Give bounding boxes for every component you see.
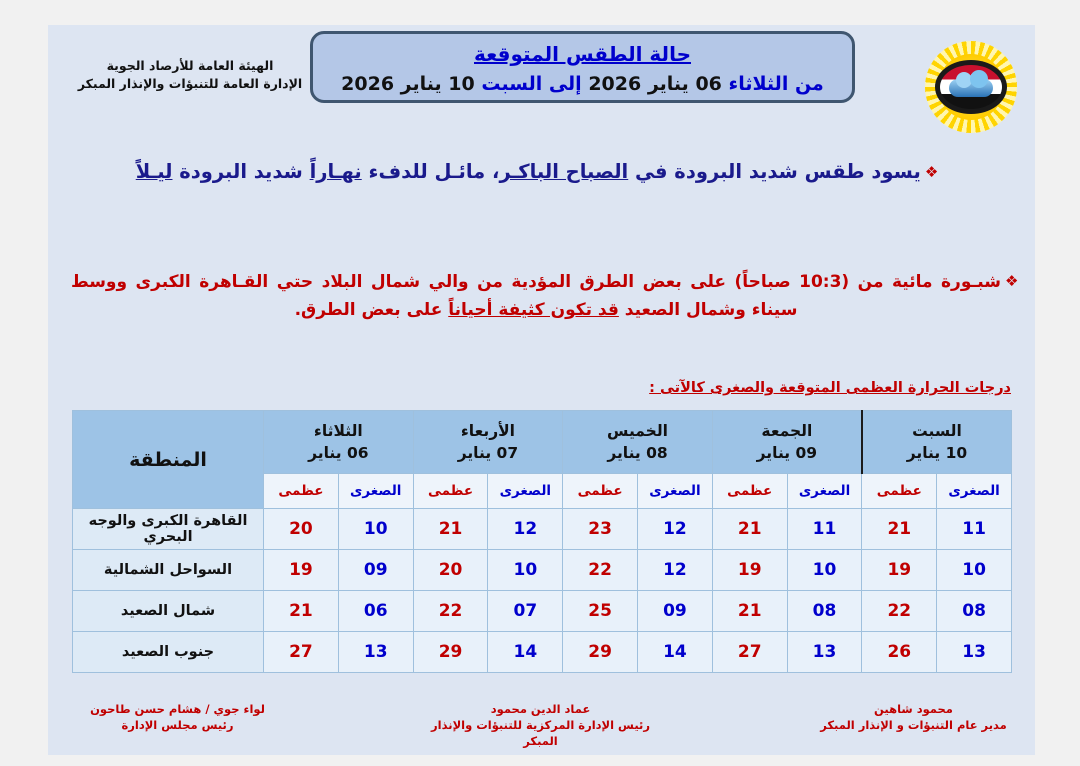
cell-r1-c1: 19 [862,550,937,591]
day-date-4: 06 يناير [264,442,413,464]
cell-r3-c2: 13 [787,632,862,673]
cloud-icon [949,79,993,97]
signature-right-role: مدير عام التنبؤات و الإنذار المبكر [806,717,1021,733]
bullet1-underline-3: ليـلاً [136,160,173,183]
cell-r3-c6: 14 [488,632,563,673]
cell-r3-c3: 27 [712,632,787,673]
cell-r1-c8: 09 [338,550,413,591]
day-header-4: الثلاثاء 06 يناير [264,411,414,474]
bullet1-text-2: ، مائـل للدفء [362,160,500,183]
day-header-2: الخميس 08 يناير [563,411,713,474]
date-range-mid: إلى السبت [481,73,581,95]
sub-header-min-0: الصغرى [937,474,1012,509]
cell-r0-c5: 23 [563,509,638,550]
temperature-table-wrapper: السبت 10 يناير الجمعة 09 يناير الخميس 08… [72,410,1012,673]
cell-r0-c8: 10 [338,509,413,550]
title-box: حالة الطقس المتوقعة من الثلاثاء 06 يناير… [310,31,855,103]
cell-r2-c5: 25 [563,591,638,632]
agency-department: الإدارة العامة للتنبؤات والإنذار المبكر [70,75,310,93]
day-header-0: السبت 10 يناير [862,411,1012,474]
region-name-2: شمال الصعيد [73,591,264,632]
table-row: 08 22 08 21 09 25 07 22 06 21 شمال الصعي… [73,591,1012,632]
cell-r3-c9: 27 [264,632,339,673]
logo-oval-shape: EMA [935,60,1007,114]
signature-middle: عماد الدين محمود رئيس الإدارة المركزية ل… [418,701,663,749]
signature-left-role: رئيس مجلس الإدارة [70,717,285,733]
signature-left-name: لواء جوي / هشام حسن طاحون [70,701,285,717]
page-title: حالة الطقس المتوقعة [313,39,852,69]
signature-right-name: محمود شاهين [806,701,1021,717]
document-header: EMA حالة الطقس المتوقعة من الثلاثاء 06 ي… [48,25,1035,140]
cell-r1-c2: 10 [787,550,862,591]
day-name-4: الثلاثاء [264,420,413,442]
region-name-0: القاهرة الكبرى والوجه البحري [73,509,264,550]
cell-r0-c7: 21 [413,509,488,550]
day-name-3: الأربعاء [414,420,563,442]
cell-r1-c4: 12 [638,550,713,591]
cell-r0-c0: 11 [937,509,1012,550]
cell-r1-c5: 22 [563,550,638,591]
cell-r3-c5: 29 [563,632,638,673]
bullet2-underline-1: قد تكون كثيفة أحياناً [448,300,619,320]
table-row: 10 19 10 19 12 22 10 20 09 19 السواحل ال… [73,550,1012,591]
signature-middle-name: عماد الدين محمود [418,701,663,717]
day-date-2: 08 يناير [563,442,712,464]
cell-r0-c4: 12 [638,509,713,550]
date-range-end: 10 يناير 2026 [341,73,475,95]
cell-r0-c2: 11 [787,509,862,550]
cell-r2-c1: 22 [862,591,937,632]
day-header-1: الجمعة 09 يناير [712,411,862,474]
sub-header-min-2: الصغرى [638,474,713,509]
sub-header-max-3: عظمى [413,474,488,509]
signature-middle-role: رئيس الإدارة المركزية للتنبؤات والإنذار … [418,717,663,749]
forecast-bullet-1: ❖يسود طقس شديد البرودة في الصباح الباكـر… [67,157,1007,187]
agency-name: الهيئة العامة للأرصاد الجوية [70,57,310,75]
cell-r3-c8: 13 [338,632,413,673]
logo-flag-shape: EMA [940,65,1002,109]
day-date-3: 07 يناير [414,442,563,464]
date-range-prefix: من الثلاثاء [729,73,824,95]
bullet2-text-2: على بعض الطرق. [295,300,449,320]
cell-r2-c8: 06 [338,591,413,632]
table-head-days-row: السبت 10 يناير الجمعة 09 يناير الخميس 08… [73,411,1012,474]
cell-r2-c9: 21 [264,591,339,632]
day-name-2: الخميس [563,420,712,442]
cell-r3-c1: 26 [862,632,937,673]
forecast-bullet-2: ❖شبـورة مائية من (10:3 صباحاً) على بعض ا… [71,267,1021,324]
cell-r1-c6: 10 [488,550,563,591]
sub-header-min-3: الصغرى [488,474,563,509]
sub-header-min-1: الصغرى [787,474,862,509]
cell-r2-c4: 09 [638,591,713,632]
cell-r1-c7: 20 [413,550,488,591]
cell-r2-c0: 08 [937,591,1012,632]
cell-r3-c4: 14 [638,632,713,673]
cell-r3-c7: 29 [413,632,488,673]
cell-r0-c3: 21 [712,509,787,550]
region-name-3: جنوب الصعيد [73,632,264,673]
cell-r0-c6: 12 [488,509,563,550]
sub-header-max-0: عظمى [862,474,937,509]
cell-r0-c1: 21 [862,509,937,550]
sub-header-max-2: عظمى [563,474,638,509]
signature-left: لواء جوي / هشام حسن طاحون رئيس مجلس الإد… [70,701,285,733]
cell-r0-c9: 20 [264,509,339,550]
cell-r1-c0: 10 [937,550,1012,591]
cell-r2-c7: 22 [413,591,488,632]
table-row: 11 21 11 21 12 23 12 21 10 20 القاهرة ال… [73,509,1012,550]
date-range-start: 06 يناير 2026 [588,73,722,95]
day-date-1: 09 يناير [713,442,861,464]
bullet1-text-3: شديد البرودة [172,160,309,183]
date-range: من الثلاثاء 06 يناير 2026 إلى السبت 10 ي… [313,69,852,99]
cell-r1-c3: 19 [712,550,787,591]
region-column-header: المنطقة [73,411,264,509]
document-page: EMA حالة الطقس المتوقعة من الثلاثاء 06 ي… [48,25,1035,755]
cell-r2-c2: 08 [787,591,862,632]
cell-r2-c6: 07 [488,591,563,632]
bullet-marker-icon: ❖ [925,163,938,181]
cell-r3-c0: 13 [937,632,1012,673]
table-row: 13 26 13 27 14 29 14 29 13 27 جنوب الصعي… [73,632,1012,673]
cell-r2-c3: 21 [712,591,787,632]
agency-block: الهيئة العامة للأرصاد الجوية الإدارة الع… [70,57,310,93]
document-footer: محمود شاهين مدير عام التنبؤات و الإنذار … [48,697,1035,745]
signature-right: محمود شاهين مدير عام التنبؤات و الإنذار … [806,701,1021,733]
bullet1-underline-2: نهـاراً [310,160,362,183]
bullet1-text-1: يسود طقس شديد البرودة في [628,160,921,183]
cell-r1-c9: 19 [264,550,339,591]
bullet1-underline-1: الصباح الباكـر [499,160,628,183]
day-header-3: الأربعاء 07 يناير [413,411,563,474]
day-name-0: السبت [863,420,1011,442]
table-caption: درجات الحرارة العظمى المتوقعة والصغرى كا… [649,380,1011,396]
bullet-marker-icon-2: ❖ [1005,272,1021,290]
sub-header-min-4: الصغرى [338,474,413,509]
region-name-1: السواحل الشمالية [73,550,264,591]
temperature-table: السبت 10 يناير الجمعة 09 يناير الخميس 08… [72,410,1012,673]
ema-logo-icon: EMA [917,33,1025,141]
sub-header-max-4: عظمى [264,474,339,509]
day-name-1: الجمعة [713,420,861,442]
day-date-0: 10 يناير [863,442,1011,464]
sub-header-max-1: عظمى [712,474,787,509]
